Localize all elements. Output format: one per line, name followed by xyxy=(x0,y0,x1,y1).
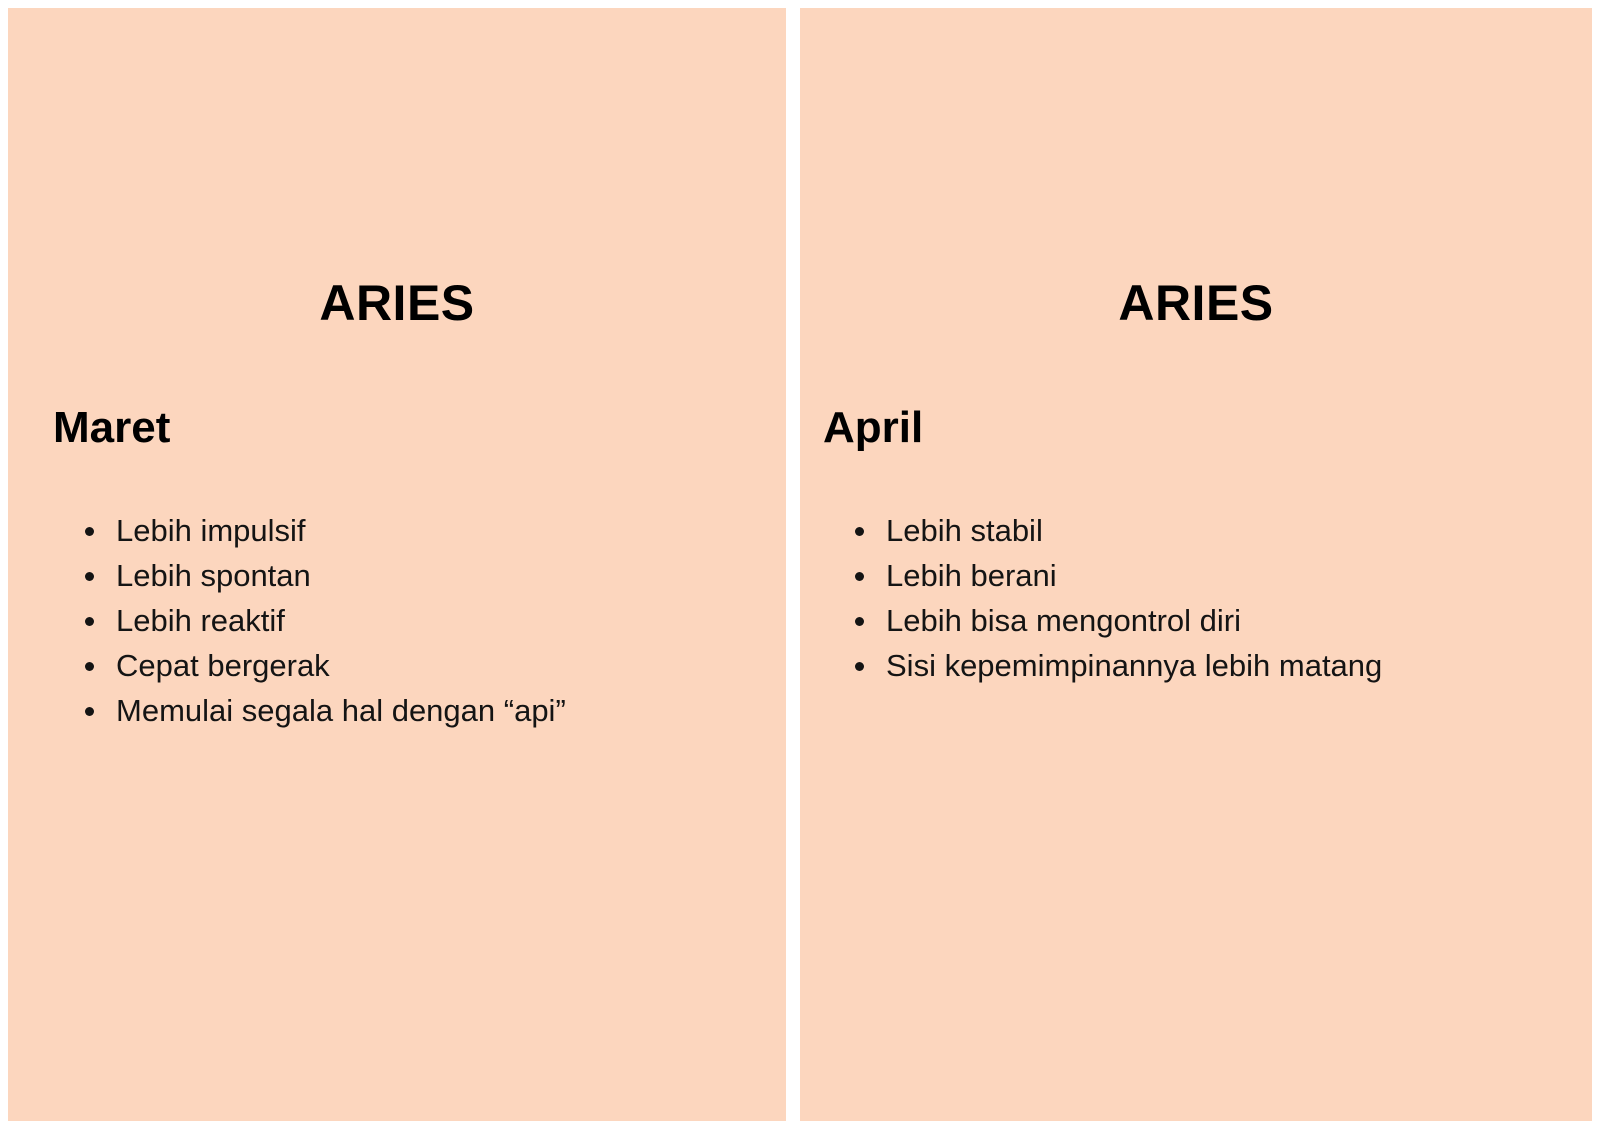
list-item: Lebih impulsif xyxy=(85,508,786,553)
list-item: Sisi kepemimpinannya lebih matang xyxy=(855,643,1592,688)
aries-comparison-slides: ARIES Maret Lebih impulsif Lebih spontan… xyxy=(0,0,1600,1131)
list-item: Lebih bisa mengontrol diri xyxy=(855,598,1592,643)
list-item: Lebih berani xyxy=(855,553,1592,598)
month-heading-maret: Maret xyxy=(8,328,786,450)
panel-april: ARIES April Lebih stabil Lebih berani Le… xyxy=(800,8,1592,1121)
panel-maret: ARIES Maret Lebih impulsif Lebih spontan… xyxy=(8,8,786,1121)
list-item: Lebih reaktif xyxy=(85,598,786,643)
zodiac-title-left: ARIES xyxy=(8,8,786,328)
list-item: Lebih spontan xyxy=(85,553,786,598)
list-item: Lebih stabil xyxy=(855,508,1592,553)
trait-list-maret: Lebih impulsif Lebih spontan Lebih reakt… xyxy=(8,450,786,733)
list-item: Cepat bergerak xyxy=(85,643,786,688)
list-item: Memulai segala hal dengan “api” xyxy=(85,688,786,733)
trait-list-april: Lebih stabil Lebih berani Lebih bisa men… xyxy=(800,450,1592,688)
panel-divider xyxy=(786,0,800,1131)
month-heading-april: April xyxy=(800,328,1592,450)
zodiac-title-right: ARIES xyxy=(800,8,1592,328)
